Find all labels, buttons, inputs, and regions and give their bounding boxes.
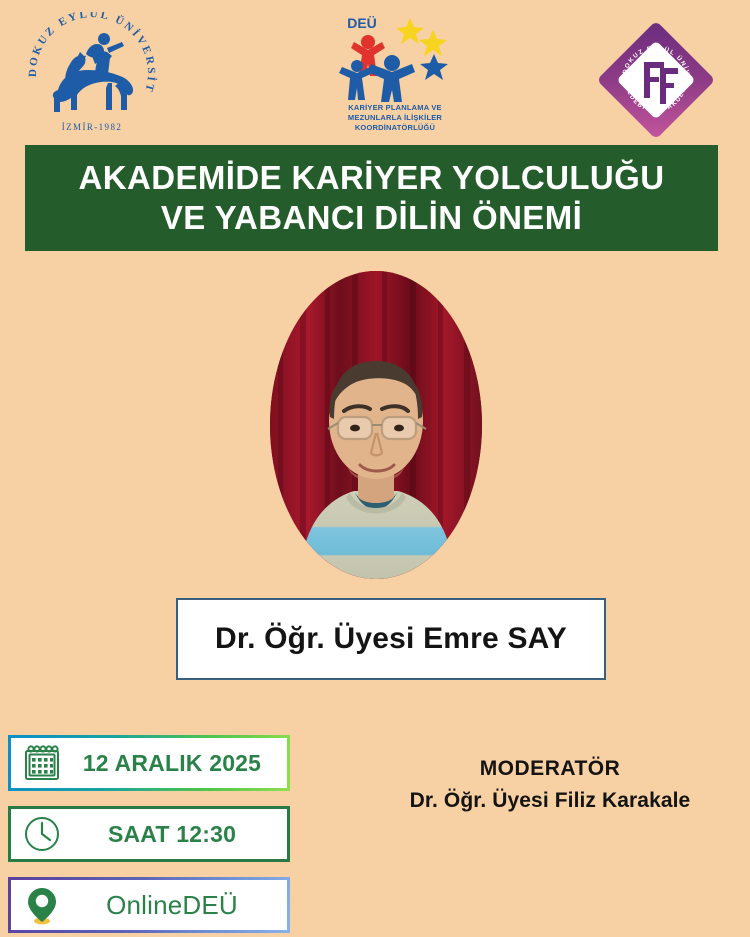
career-caption-line3: KOORDİNATÖRLÜĞÜ bbox=[330, 123, 460, 133]
career-logo-caption: KARİYER PLANLAMA VE MEZUNLARLA İLİŞKİLER… bbox=[330, 103, 460, 133]
calendar-icon bbox=[17, 740, 67, 786]
logo-row: DOKUZ EYLÜL ÜNİVERSİTESİ bbox=[0, 0, 750, 142]
career-caption-line2: MEZUNLARLA İLİŞKİLER bbox=[330, 113, 460, 123]
event-time-box: SAAT 12:30 bbox=[8, 806, 290, 862]
career-caption-line1: KARİYER PLANLAMA VE bbox=[330, 103, 460, 113]
event-poster: DOKUZ EYLÜL ÜNİVERSİTESİ bbox=[0, 0, 750, 937]
event-place-value: OnlineDEÜ bbox=[67, 890, 281, 921]
blue-people-icon bbox=[339, 55, 415, 102]
seal-graphic: DOKUZ EYLÜL ÜNİVERSİTESİ bbox=[22, 12, 162, 138]
title-line-1: AKADEMİDE KARİYER YOLCULUĞU bbox=[79, 158, 665, 198]
portrait-graphic bbox=[270, 271, 482, 579]
event-date-box: 12 ARALIK 2025 bbox=[8, 735, 290, 791]
speaker-portrait bbox=[270, 271, 482, 579]
career-center-logo: DEÜ KARİYER PLANLAMA VE MEZUNLARLA İLİŞK… bbox=[330, 14, 460, 136]
speaker-name-box: Dr. Öğr. Üyesi Emre SAY bbox=[176, 598, 606, 680]
map-pin-icon-graphic bbox=[22, 884, 62, 926]
seal-year-text: İZMİR-1982 bbox=[62, 122, 123, 132]
event-time-value: SAAT 12:30 bbox=[67, 821, 281, 848]
faculty-logo: DOKUZ EYLÜL ÜNİVERSİTESİ EDEBİYAT FAKÜLT… bbox=[598, 22, 714, 138]
title-banner: AKADEMİDE KARİYER YOLCULUĞU VE YABANCI D… bbox=[25, 145, 718, 251]
title-line-2: VE YABANCI DİLİN ÖNEMİ bbox=[161, 198, 582, 238]
moderator-label: MODERATÖR bbox=[355, 755, 745, 783]
moderator-name: Dr. Öğr. Üyesi Filiz Karakale bbox=[355, 787, 745, 815]
moderator-block: MODERATÖR Dr. Öğr. Üyesi Filiz Karakale bbox=[355, 755, 745, 816]
calendar-icon-graphic bbox=[22, 743, 62, 783]
horse-rider-emblem bbox=[53, 33, 133, 112]
university-seal-logo: DOKUZ EYLÜL ÜNİVERSİTESİ bbox=[22, 12, 162, 138]
speaker-name: Dr. Öğr. Üyesi Emre SAY bbox=[215, 622, 567, 656]
faculty-logo-graphic: DOKUZ EYLÜL ÜNİVERSİTESİ EDEBİYAT FAKÜLT… bbox=[598, 22, 714, 138]
event-place-box: OnlineDEÜ bbox=[8, 877, 290, 933]
career-logo-abbr: DEÜ bbox=[347, 15, 377, 31]
event-date-value: 12 ARALIK 2025 bbox=[67, 750, 281, 777]
career-logo-graphic: DEÜ bbox=[330, 14, 460, 102]
map-pin-icon bbox=[17, 882, 67, 928]
clock-icon bbox=[17, 811, 67, 857]
clock-icon-graphic bbox=[22, 814, 62, 854]
